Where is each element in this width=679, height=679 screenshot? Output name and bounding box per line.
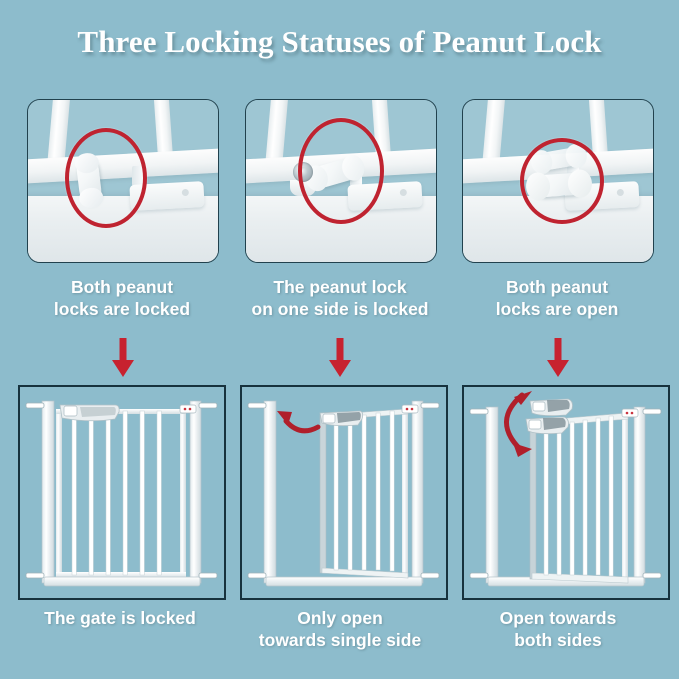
photo-panel-both-open xyxy=(462,99,654,263)
arrow-down-icon xyxy=(545,338,571,378)
caption-line-1: Only open xyxy=(225,607,455,629)
caption-gate-both-sides: Open towards both sides xyxy=(443,607,673,651)
caption-gate-locked: The gate is locked xyxy=(5,607,235,629)
caption-line-2: locks are open xyxy=(442,298,672,320)
photo-panel-one-side-locked xyxy=(245,99,437,263)
caption-line-1: Open towards xyxy=(443,607,673,629)
diagram-panel-gate-both-sides xyxy=(462,385,670,600)
photo-image-one-side-locked xyxy=(246,100,436,262)
caption-line-1: The peanut lock xyxy=(225,276,455,298)
red-circle-highlight-icon xyxy=(298,118,384,224)
caption-line-2: towards single side xyxy=(225,629,455,651)
caption-line-2: locks are locked xyxy=(7,298,237,320)
gate-panel-swung xyxy=(526,399,628,583)
red-circle-highlight-icon xyxy=(65,128,147,228)
arrow-down-icon xyxy=(327,338,353,378)
caption-both-locked: Both peanut locks are locked xyxy=(7,276,237,320)
gate-latch-handle xyxy=(320,411,363,426)
arrow-down-icon xyxy=(110,338,136,378)
red-circle-highlight-icon xyxy=(520,138,604,224)
gate-panel-swung xyxy=(320,409,408,578)
infographic-page: Three Locking Statuses of Peanut Lock xyxy=(0,0,679,679)
photo-image-both-locked xyxy=(28,100,218,262)
gate-illustration-single-side xyxy=(242,387,442,594)
gate-illustration-locked xyxy=(20,387,220,594)
photo-panel-both-locked xyxy=(27,99,219,263)
diagram-panel-gate-single-side xyxy=(240,385,448,600)
caption-one-side-locked: The peanut lock on one side is locked xyxy=(225,276,455,320)
caption-gate-single-side: Only open towards single side xyxy=(225,607,455,651)
caption-line-1: Both peanut xyxy=(7,276,237,298)
caption-both-open: Both peanut locks are open xyxy=(442,276,672,320)
gate-illustration-both-sides xyxy=(464,387,664,594)
caption-line-1: The gate is locked xyxy=(5,607,235,629)
caption-line-1: Both peanut xyxy=(442,276,672,298)
photo-image-both-open xyxy=(463,100,653,262)
photo-row xyxy=(0,99,679,261)
gate-latch-handle xyxy=(526,399,573,434)
page-title: Three Locking Statuses of Peanut Lock xyxy=(0,24,679,60)
caption-line-2: on one side is locked xyxy=(225,298,455,320)
swing-arrow-icon xyxy=(277,411,318,431)
caption-line-2: both sides xyxy=(443,629,673,651)
gate-latch-handle xyxy=(60,405,119,421)
diagram-panel-gate-locked xyxy=(18,385,226,600)
